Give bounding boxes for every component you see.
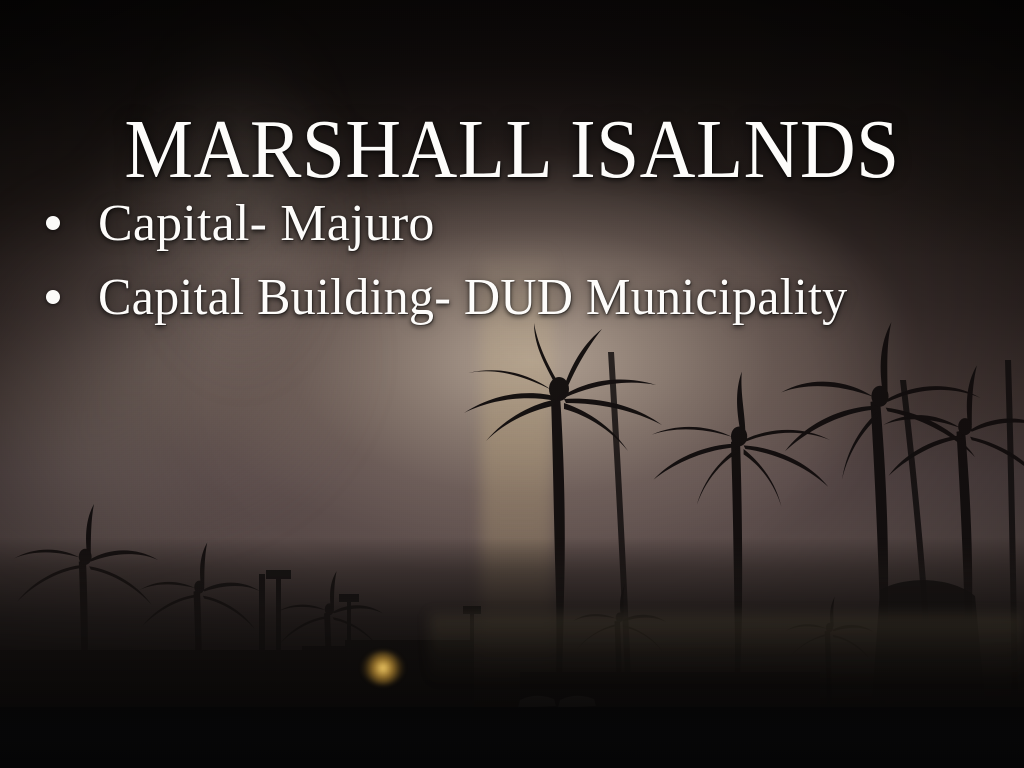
list-item: Capital- Majuro [46, 196, 1000, 252]
bullet-text-capital: Capital- Majuro [98, 196, 435, 252]
page-title: MARSHALL ISALNDS [41, 108, 983, 192]
slide-content: MARSHALL ISALNDS Capital- Majuro Capital… [0, 0, 1024, 768]
bullet-point-icon [46, 216, 60, 230]
bullet-point-icon [46, 290, 60, 304]
bullet-list: Capital- Majuro Capital Building- DUD Mu… [46, 196, 1000, 344]
slide-canvas: MARSHALL ISALNDS Capital- Majuro Capital… [0, 0, 1024, 768]
bullet-text-capital-building: Capital Building- DUD Municipality [98, 270, 847, 326]
list-item: Capital Building- DUD Municipality [46, 270, 1000, 326]
